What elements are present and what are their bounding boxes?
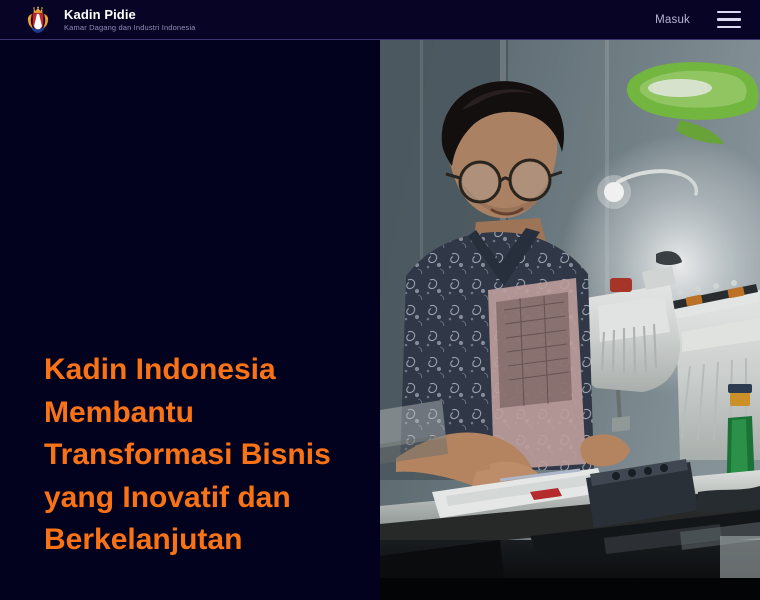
hero-image	[380, 40, 760, 600]
brand-text: Kadin Pidie Kamar Dagang dan Industri In…	[64, 8, 196, 32]
header-actions: Masuk	[655, 10, 742, 30]
hero-headline: Kadin Indonesia Membantu Transformasi Bi…	[44, 349, 374, 562]
kadin-crest-logo-icon	[22, 4, 54, 36]
brand-subtitle: Kamar Dagang dan Industri Indonesia	[64, 24, 196, 32]
hamburger-bar-1	[717, 11, 741, 14]
hero-section: Kadin Indonesia Membantu Transformasi Bi…	[0, 40, 760, 600]
login-link[interactable]: Masuk	[655, 14, 690, 26]
brand-title: Kadin Pidie	[64, 8, 196, 21]
brand[interactable]: Kadin Pidie Kamar Dagang dan Industri In…	[22, 4, 196, 36]
hamburger-bar-3	[717, 26, 741, 29]
hamburger-menu-icon[interactable]	[716, 10, 742, 30]
hero-copy: Kadin Indonesia Membantu Transformasi Bi…	[0, 40, 382, 600]
site-header: Kadin Pidie Kamar Dagang dan Industri In…	[0, 0, 760, 40]
hamburger-bar-2	[717, 18, 741, 21]
page-root: Kadin Pidie Kamar Dagang dan Industri In…	[0, 0, 760, 600]
